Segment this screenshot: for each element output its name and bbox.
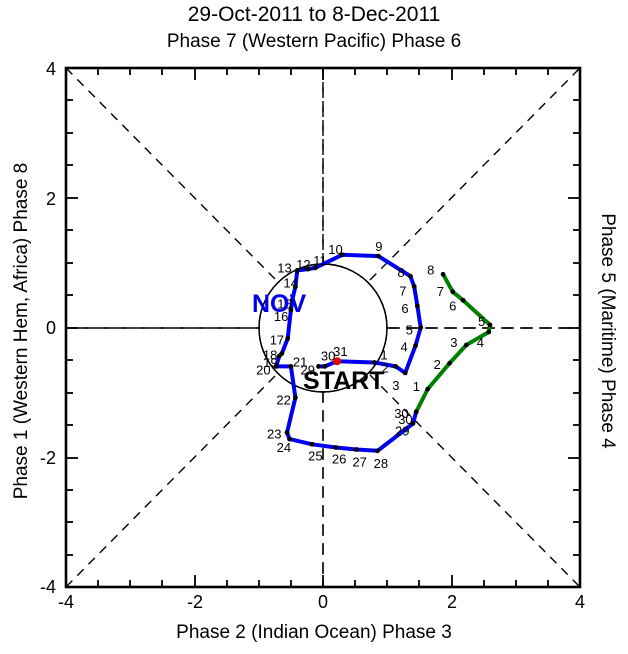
day-label: 3 bbox=[450, 335, 457, 350]
data-point-marker bbox=[425, 387, 430, 392]
data-point-marker bbox=[412, 284, 417, 289]
x-tick-label: -4 bbox=[58, 592, 74, 612]
day-label: 11 bbox=[313, 253, 327, 268]
day-label: 8 bbox=[397, 265, 404, 280]
day-label: 31 bbox=[333, 344, 347, 359]
day-label: 20 bbox=[256, 362, 270, 377]
day-label: 12 bbox=[296, 257, 310, 272]
day-label: 27 bbox=[352, 455, 366, 470]
y-tick-label: 4 bbox=[46, 59, 56, 79]
mjo-phase-diagram: 29-Oct-2011 to 8-Dec-2011 Phase 7 (Weste… bbox=[0, 0, 628, 654]
start-label: START bbox=[303, 367, 384, 395]
x-tick-labels: -4 -2 0 2 4 bbox=[58, 592, 585, 612]
data-point-marker bbox=[393, 364, 398, 369]
data-point-marker bbox=[354, 447, 359, 452]
data-point-marker bbox=[414, 409, 419, 414]
y-tick-label: 0 bbox=[46, 318, 56, 338]
day-label: 24 bbox=[277, 440, 291, 455]
data-point-marker bbox=[413, 343, 418, 348]
day-label: 28 bbox=[374, 456, 388, 471]
circle-interior-mask bbox=[66, 68, 580, 587]
day-label: 10 bbox=[328, 242, 342, 257]
day-label: 13 bbox=[277, 260, 291, 275]
day-label: 9 bbox=[375, 239, 382, 254]
x-tick-label: 2 bbox=[447, 592, 457, 612]
day-label: 3 bbox=[392, 378, 399, 393]
data-point-marker bbox=[450, 289, 455, 294]
data-point-marker bbox=[310, 442, 315, 447]
day-label: 30 bbox=[394, 406, 408, 421]
data-point-marker bbox=[418, 325, 423, 330]
x-axis-title: Phase 2 (Indian Ocean) Phase 3 bbox=[0, 622, 628, 644]
day-label: 2 bbox=[434, 357, 441, 372]
y-tick-label: -2 bbox=[40, 448, 56, 468]
data-point-marker bbox=[293, 395, 298, 400]
day-label: 17 bbox=[270, 333, 284, 348]
data-point-marker bbox=[486, 330, 491, 335]
data-point-marker bbox=[441, 272, 446, 277]
y-tick-label: 2 bbox=[46, 189, 56, 209]
day-label: 1 bbox=[413, 379, 420, 394]
y-axis-title-right: Phase 5 (Maritime) Phase 4 bbox=[596, 61, 618, 601]
day-label: 6 bbox=[449, 298, 456, 313]
data-point-marker bbox=[403, 371, 408, 376]
day-label: 4 bbox=[477, 335, 484, 350]
month-label-nov: NOV bbox=[252, 290, 307, 318]
day-label: 5 bbox=[478, 314, 485, 329]
data-point-marker bbox=[376, 254, 381, 259]
day-label: 8 bbox=[427, 262, 434, 277]
day-label: 14 bbox=[283, 276, 297, 291]
x-tick-label: 4 bbox=[575, 592, 585, 612]
data-point-marker bbox=[408, 274, 413, 279]
data-point-marker bbox=[447, 361, 452, 366]
data-point-marker bbox=[464, 343, 469, 348]
y-axis-title-left: Phase 1 (Western Hem, Africa) Phase 8 bbox=[11, 61, 33, 601]
day-label: 25 bbox=[308, 448, 322, 463]
data-point-marker bbox=[285, 430, 290, 435]
data-point-marker bbox=[334, 445, 339, 450]
data-point-marker bbox=[461, 298, 466, 303]
data-point-marker bbox=[285, 336, 290, 341]
day-label: 4 bbox=[401, 340, 408, 355]
data-point-marker bbox=[375, 448, 380, 453]
y-tick-labels: -4 -2 0 2 4 bbox=[40, 59, 56, 597]
data-point-marker bbox=[488, 323, 493, 328]
day-label: 26 bbox=[332, 452, 346, 467]
day-label: 7 bbox=[437, 284, 444, 299]
data-point-marker bbox=[415, 304, 420, 309]
day-label: 5 bbox=[406, 323, 413, 338]
day-label: 6 bbox=[401, 301, 408, 316]
y-tick-label: -4 bbox=[40, 577, 56, 597]
plot-canvas: -4 -2 0 2 4 -4 -2 0 2 4 2930311234567891… bbox=[0, 0, 628, 654]
x-tick-label: 0 bbox=[318, 592, 328, 612]
data-point-marker bbox=[372, 360, 377, 365]
day-label: 22 bbox=[276, 393, 290, 408]
x-tick-label: -2 bbox=[187, 592, 203, 612]
day-label: 7 bbox=[399, 284, 406, 299]
